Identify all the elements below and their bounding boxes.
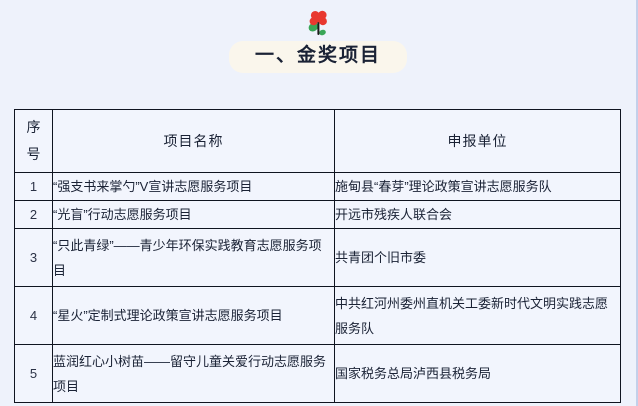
award-table-container: 序 号 项目名称 申报单位 1 “强支书来掌勺”V宣讲志愿服务项目 施甸县“春芽… [14, 109, 620, 403]
row-project-name-5: 蓝润红心小树苗——留守儿童关爱行动志愿服务项目 [53, 345, 335, 403]
page-title: 一、金奖项目 [255, 45, 381, 66]
table-row: 4 “星火”定制式理论政策宣讲志愿服务项目 中共红河州委州直机关工委新时代文明实… [15, 287, 621, 345]
row-applicant-unit-3: 共青团个旧市委 [335, 229, 621, 287]
flower-icon [301, 6, 335, 40]
row-index-2: 2 [15, 201, 53, 229]
row-project-name-2: “光盲”行动志愿服务项目 [53, 201, 335, 229]
table-row: 1 “强支书来掌勺”V宣讲志愿服务项目 施甸县“春芽”理论政策宣讲志愿服务队 [15, 173, 621, 201]
gold-award-table: 序 号 项目名称 申报单位 1 “强支书来掌勺”V宣讲志愿服务项目 施甸县“春芽… [14, 109, 621, 403]
row-applicant-unit-5: 国家税务总局泸西县税务局 [335, 345, 621, 403]
column-header-project-name: 项目名称 [53, 110, 335, 173]
row-index-3: 3 [15, 229, 53, 287]
row-index-4: 4 [15, 287, 53, 345]
table-header-row: 序 号 项目名称 申报单位 [15, 110, 621, 173]
section-title-highlight: 一、金奖项目 [229, 41, 407, 73]
row-index-1: 1 [15, 173, 53, 201]
row-project-name-1: “强支书来掌勺”V宣讲志愿服务项目 [53, 173, 335, 201]
table-body: 1 “强支书来掌勺”V宣讲志愿服务项目 施甸县“春芽”理论政策宣讲志愿服务队 2… [15, 173, 621, 403]
column-header-index-char-1: 序 [15, 114, 52, 141]
row-project-name-4: “星火”定制式理论政策宣讲志愿服务项目 [53, 287, 335, 345]
row-applicant-unit-4: 中共红河州委州直机关工委新时代文明实践志愿服务队 [335, 287, 621, 345]
column-header-index: 序 号 [15, 110, 53, 173]
row-applicant-unit-1: 施甸县“春芽”理论政策宣讲志愿服务队 [335, 173, 621, 201]
row-applicant-unit-2: 开远市残疾人联合会 [335, 201, 621, 229]
column-header-index-char-2: 号 [15, 141, 52, 168]
table-row: 3 “只此青绿”——青少年环保实践教育志愿服务项目 共青团个旧市委 [15, 229, 621, 287]
table-header: 序 号 项目名称 申报单位 [15, 110, 621, 173]
row-index-5: 5 [15, 345, 53, 403]
row-project-name-3: “只此青绿”——青少年环保实践教育志愿服务项目 [53, 229, 335, 287]
column-header-applicant-unit: 申报单位 [335, 110, 621, 173]
document-page: 一、金奖项目 序 号 项目名称 申报单位 1 “ [0, 0, 638, 406]
table-row: 5 蓝润红心小树苗——留守儿童关爱行动志愿服务项目 国家税务总局泸西县税务局 [15, 345, 621, 403]
document-header: 一、金奖项目 [0, 0, 636, 73]
table-row: 2 “光盲”行动志愿服务项目 开远市残疾人联合会 [15, 201, 621, 229]
